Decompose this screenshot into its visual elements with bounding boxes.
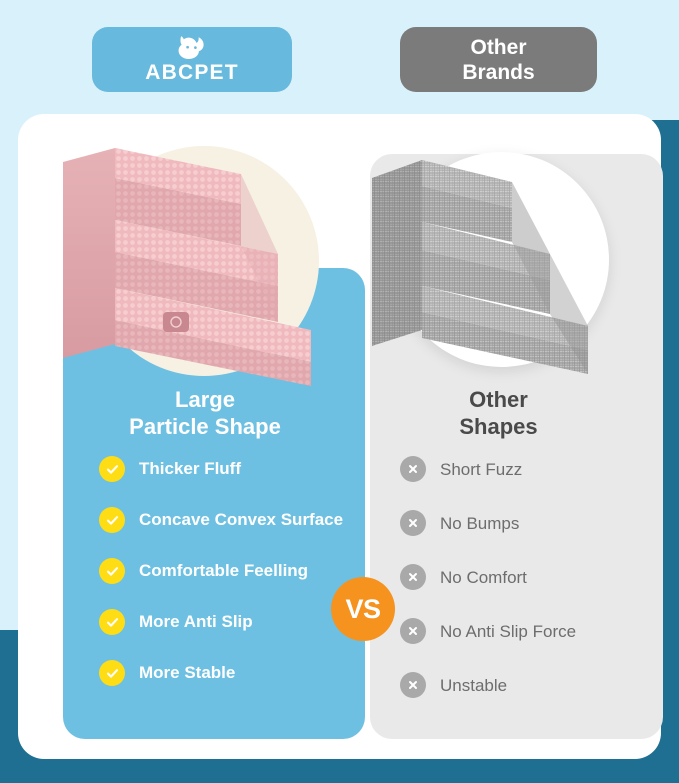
feature-label: Unstable (440, 675, 507, 696)
feature-label: Thicker Fluff (139, 456, 241, 479)
feature-label: More Stable (139, 660, 235, 683)
list-item: Unstable (400, 672, 635, 698)
abcpet-product-image (45, 134, 365, 389)
feature-label: No Bumps (440, 513, 519, 534)
vs-badge: VS (331, 577, 395, 641)
cross-circle-icon (400, 672, 426, 698)
list-item: Concave Convex Surface (99, 507, 351, 533)
other-title-line1: Other (352, 386, 645, 413)
column-other-brands: Other Shapes Short Fuzz No Bumps (352, 134, 645, 739)
list-item: Short Fuzz (400, 456, 635, 482)
brand-pill: ABCPET (92, 27, 292, 92)
check-circle-icon (99, 456, 125, 482)
feature-label: No Comfort (440, 567, 527, 588)
other-brands-label-line1: Other (470, 35, 526, 60)
feature-label: Short Fuzz (440, 459, 522, 480)
other-brands-product-image (352, 134, 645, 389)
comparison-infographic: ABCPET Other Brands (0, 0, 679, 783)
other-brands-pill: Other Brands (400, 27, 597, 92)
list-item: No Bumps (400, 510, 635, 536)
other-brands-label-line2: Brands (462, 60, 534, 85)
content-panel: Large Particle Shape Thicker Fluff Conca… (18, 114, 661, 759)
list-item: Comfortable Feelling (99, 558, 351, 584)
abcpet-card-title: Large Particle Shape (45, 386, 365, 440)
other-title-line2: Shapes (352, 413, 645, 440)
feature-label: Concave Convex Surface (139, 507, 343, 530)
dog-head-icon (175, 34, 209, 60)
list-item: More Anti Slip (99, 609, 351, 635)
feature-label: No Anti Slip Force (440, 621, 576, 642)
abcpet-feature-list: Thicker Fluff Concave Convex Surface Com… (45, 456, 365, 686)
check-circle-icon (99, 609, 125, 635)
other-brands-card-title: Other Shapes (352, 386, 645, 440)
check-circle-icon (99, 660, 125, 686)
list-item: More Stable (99, 660, 351, 686)
pink-pet-stairs-illustration (45, 134, 365, 389)
abcpet-title-line1: Large (45, 386, 365, 413)
cross-circle-icon (400, 510, 426, 536)
other-brands-feature-list: Short Fuzz No Bumps No Comfort (352, 456, 645, 698)
check-circle-icon (99, 558, 125, 584)
abcpet-title-line2: Particle Shape (45, 413, 365, 440)
list-item: No Comfort (400, 564, 635, 590)
gray-pet-stairs-illustration (352, 134, 645, 389)
list-item: No Anti Slip Force (400, 618, 635, 644)
feature-label: More Anti Slip (139, 609, 253, 632)
cross-circle-icon (400, 618, 426, 644)
cross-circle-icon (400, 456, 426, 482)
list-item: Thicker Fluff (99, 456, 351, 482)
cross-circle-icon (400, 564, 426, 590)
check-circle-icon (99, 507, 125, 533)
brand-pill-label: ABCPET (145, 61, 239, 85)
column-abcpet: Large Particle Shape Thicker Fluff Conca… (45, 134, 365, 739)
feature-label: Comfortable Feelling (139, 558, 308, 581)
